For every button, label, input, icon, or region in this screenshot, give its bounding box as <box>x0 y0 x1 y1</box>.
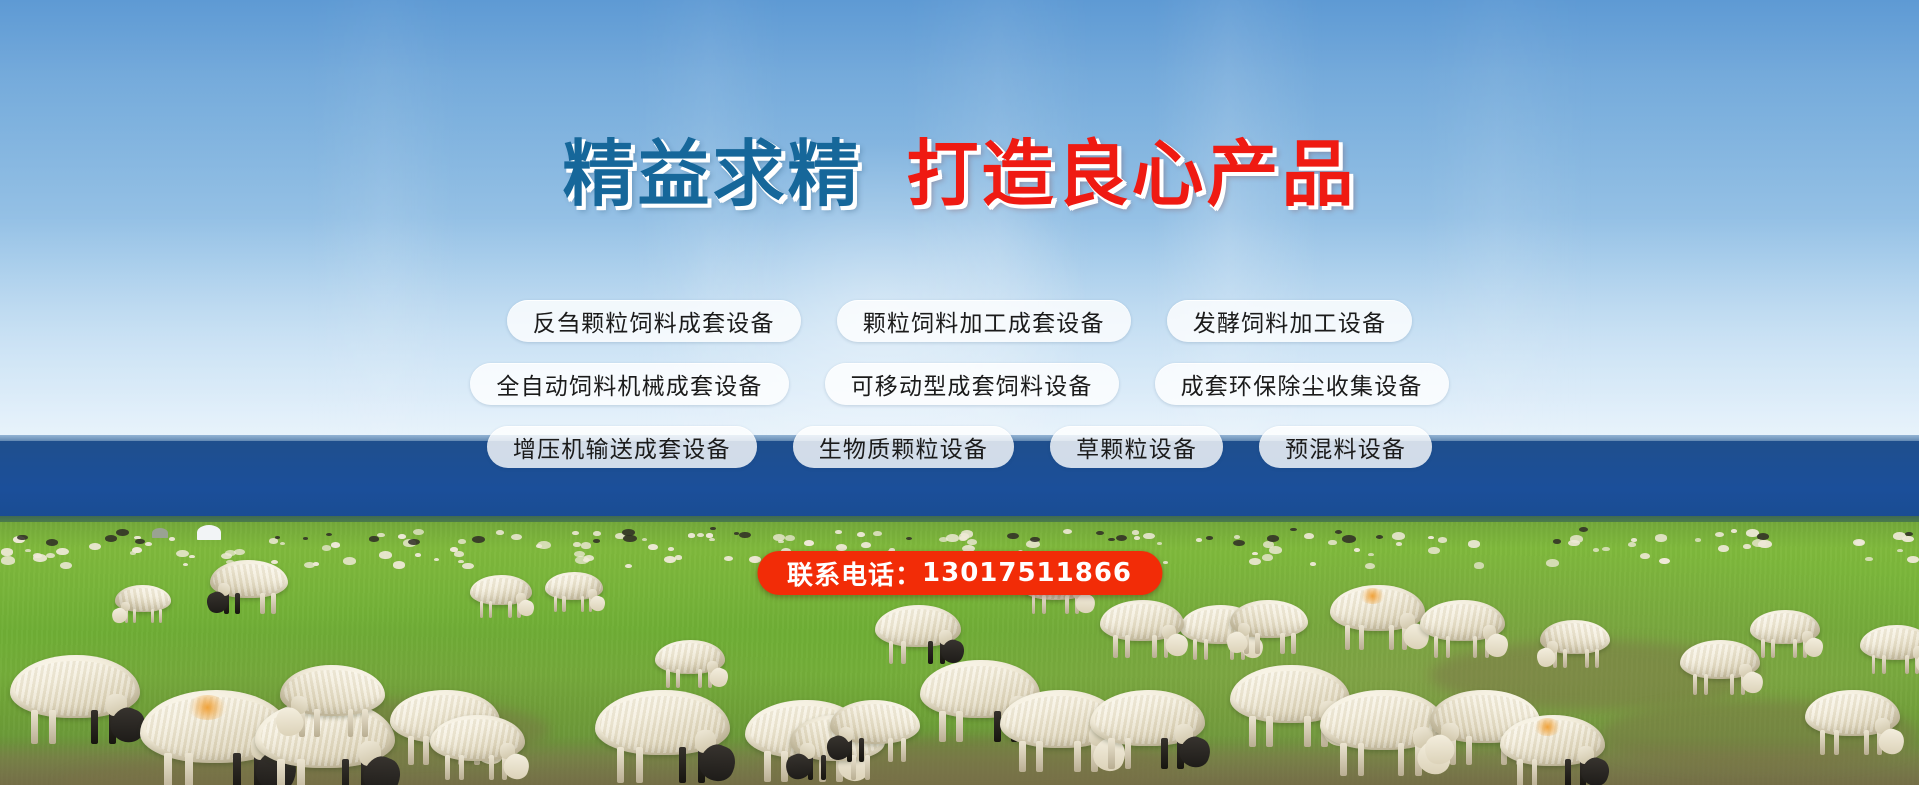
sheep-leg <box>764 751 771 783</box>
sheep-leg <box>508 601 511 617</box>
sheep <box>1420 600 1505 666</box>
distant-sheep <box>280 542 285 545</box>
distant-sheep <box>946 534 959 542</box>
sheep-leg <box>151 609 154 624</box>
distant-sheep <box>33 554 47 562</box>
sheep-leg <box>1532 759 1538 785</box>
distant-sheep <box>1468 540 1480 547</box>
sheep-leg <box>1771 639 1775 658</box>
distant-sheep <box>574 551 585 558</box>
distant-sheep <box>415 553 422 557</box>
sheep-leg <box>185 753 193 785</box>
sheep-leg <box>133 609 136 624</box>
distant-sheep <box>496 530 504 535</box>
sheep <box>10 655 140 756</box>
sheep-leg <box>348 709 354 737</box>
distant-sheep <box>706 533 713 537</box>
distant-sheep <box>1396 542 1402 546</box>
distant-sheep <box>873 531 882 536</box>
distant-sheep <box>331 542 340 547</box>
distant-sheep <box>573 542 581 547</box>
sheep <box>280 665 385 747</box>
sheep-leg <box>1249 716 1256 748</box>
distant-sheep <box>1743 544 1751 549</box>
distant-sheep <box>593 531 601 536</box>
distant-sheep <box>861 542 871 548</box>
sheep-leg <box>1266 716 1273 748</box>
sheep-leg <box>1036 741 1043 773</box>
distant-sheep <box>1628 542 1636 547</box>
sheep-leg <box>1193 639 1197 660</box>
distant-sheep <box>183 563 188 566</box>
distant-sheep <box>398 534 406 539</box>
distant-sheep <box>511 534 521 540</box>
distant-sheep <box>434 558 439 561</box>
sheep-leg <box>342 759 350 785</box>
sheep-paint-mark <box>188 695 227 721</box>
sheep-leg <box>956 711 963 743</box>
product-tag-row-1: 反刍颗粒饲料成套设备 颗粒饲料加工成套设备 发酵饲料加工设备 <box>507 300 1413 342</box>
sheep <box>830 700 920 770</box>
sheep-leg <box>1761 639 1765 658</box>
sheep-leg <box>554 596 557 611</box>
sheep-leg <box>1204 639 1208 660</box>
sheep-leg <box>1304 716 1311 748</box>
sheep-leg <box>164 753 172 785</box>
page-title: 精益求精打造良心产品 <box>0 138 1919 210</box>
sheep-leg <box>1864 730 1869 755</box>
distant-sheep <box>1474 562 1484 568</box>
sheep-leg <box>459 755 464 780</box>
distant-sheep <box>1695 538 1701 541</box>
sheep-leg <box>1345 625 1350 650</box>
distant-sheep <box>458 560 464 563</box>
distant-sheep <box>1354 548 1361 552</box>
distant-sheep <box>668 547 674 551</box>
sheep-leg <box>233 753 241 785</box>
product-tag-ruminant-pellet-feed-complete-equipment[interactable]: 反刍颗粒饲料成套设备 <box>507 300 801 342</box>
distant-dark-animal <box>710 527 715 530</box>
distant-sheep <box>664 556 676 563</box>
distant-sheep <box>1428 547 1439 554</box>
sheep-leg <box>1517 759 1523 785</box>
sheep-leg <box>1446 636 1451 659</box>
sheep-leg <box>1065 595 1069 614</box>
distant-sheep <box>688 533 696 538</box>
distant-sheep <box>145 542 152 546</box>
distant-sheep <box>1143 533 1155 540</box>
distant-sheep <box>1438 537 1447 543</box>
distant-sheep <box>675 555 683 560</box>
sheep <box>1330 585 1425 659</box>
hero-banner: 精益求精打造良心产品 反刍颗粒饲料成套设备 颗粒饲料加工成套设备 发酵饲料加工设… <box>0 0 1919 785</box>
sheep-leg <box>636 747 643 783</box>
distant-sheep <box>1 556 15 564</box>
distant-dark-animal <box>1335 530 1342 534</box>
sheep-leg <box>1125 635 1130 657</box>
distant-sheep <box>1631 538 1637 542</box>
distant-sheep <box>857 532 865 537</box>
sheep-leg <box>1466 736 1472 765</box>
sheep-leg <box>1358 743 1365 776</box>
sheep-leg <box>1730 674 1734 695</box>
sheep-leg <box>666 669 670 688</box>
distant-sheep <box>1157 542 1162 545</box>
distant-sheep <box>967 539 977 545</box>
product-tag-biomass-pellet-equipment[interactable]: 生物质颗粒设备 <box>793 426 1014 468</box>
sheep-leg <box>1434 636 1439 659</box>
distant-dark-animal <box>593 539 600 543</box>
sheep-leg <box>617 747 624 783</box>
distant-sheep <box>1134 536 1140 540</box>
sheep-leg <box>1280 633 1284 654</box>
sheep-leg <box>1125 738 1131 768</box>
distant-sheep <box>1262 554 1273 560</box>
product-tag-premix-equipment[interactable]: 预混料设备 <box>1259 426 1432 468</box>
sheep-leg <box>1359 625 1364 650</box>
sheep-leg <box>31 710 38 744</box>
sheep-leg <box>159 609 162 624</box>
distant-sheep <box>1865 557 1872 561</box>
sheep <box>1500 715 1605 785</box>
distant-sheep <box>572 531 578 535</box>
distant-sheep <box>1368 553 1373 556</box>
sheep-leg <box>271 593 275 614</box>
sheep-leg <box>1872 655 1876 674</box>
sheep <box>210 560 288 621</box>
distant-sheep <box>1365 563 1375 569</box>
distant-sheep <box>1263 541 1274 548</box>
sheep <box>545 572 603 617</box>
contact-phone-label: 联系电话： <box>787 555 922 592</box>
sheep <box>1540 620 1610 675</box>
distant-sheep <box>46 553 55 558</box>
sheep-leg <box>939 711 946 743</box>
sheep-leg <box>901 641 906 664</box>
sheep <box>470 575 532 623</box>
distant-sheep <box>462 563 473 570</box>
product-tag-row-2: 全自动饲料机械成套设备 可移动型成套饲料设备 成套环保除尘收集设备 <box>470 363 1448 405</box>
sheep-leg <box>562 596 565 611</box>
product-tag-grid: 反刍颗粒饲料成套设备 颗粒饲料加工成套设备 发酵饲料加工设备 全自动饲料机械成套… <box>0 300 1919 468</box>
distant-dark-animal <box>1905 532 1913 536</box>
distant-sheep <box>1328 540 1336 545</box>
contact-phone-number: 13017511866 <box>922 558 1132 588</box>
distant-sheep <box>169 537 175 541</box>
distant-sheep <box>25 549 30 552</box>
sheep-leg <box>888 738 893 762</box>
distant-sheep <box>1304 533 1314 539</box>
sheep-leg <box>859 738 864 762</box>
sheep <box>655 640 725 695</box>
distant-dark-animal <box>1757 533 1769 540</box>
distant-dark-animal <box>622 529 635 536</box>
sheep-leg <box>1834 730 1839 755</box>
sheep-wool <box>1863 628 1919 658</box>
product-tag-environmental-dust-collection-equipment[interactable]: 成套环保除尘收集设备 <box>1155 363 1449 405</box>
sheep-leg <box>581 596 584 611</box>
distant-sheep <box>1655 534 1667 541</box>
sheep-leg <box>1152 635 1157 657</box>
distant-sheep <box>269 538 279 544</box>
sheep-leg <box>1820 730 1825 755</box>
sheep-leg <box>277 759 285 785</box>
sheep-leg <box>1291 633 1295 654</box>
sheep <box>115 585 171 629</box>
distant-sheep <box>1428 536 1434 539</box>
sheep-leg <box>1113 635 1118 657</box>
sheep-leg <box>698 669 702 688</box>
distant-sheep <box>1310 562 1316 566</box>
distant-dark-animal <box>1342 535 1356 543</box>
sheep <box>595 690 730 785</box>
sheep-leg <box>889 641 894 664</box>
distant-sheep <box>450 547 458 552</box>
distant-sheep <box>454 551 463 557</box>
distant-sheep <box>1570 535 1583 543</box>
sheep-leg <box>1074 741 1081 773</box>
sheep-leg <box>91 710 98 744</box>
sheep-leg <box>489 601 492 617</box>
sheep-leg <box>1108 738 1114 768</box>
distant-sheep <box>1546 559 1559 567</box>
sheep-leg <box>1255 633 1259 654</box>
sheep-leg <box>821 755 826 780</box>
sheep-leg <box>1032 595 1036 614</box>
headline-blue-text: 精益求精 <box>562 132 862 216</box>
sheep-leg <box>1704 674 1708 695</box>
distant-sheep <box>1718 545 1729 552</box>
sheep <box>1320 690 1445 785</box>
distant-sheep <box>393 561 406 569</box>
product-tag-booster-conveying-complete-equipment[interactable]: 增压机输送成套设备 <box>487 426 757 468</box>
sheep-leg <box>1161 738 1167 768</box>
sheep-leg <box>1398 743 1405 776</box>
product-tag-fermented-feed-processing-equipment[interactable]: 发酵饲料加工设备 <box>1167 300 1413 342</box>
sheep-leg <box>928 641 933 664</box>
sheep-leg <box>1585 649 1589 668</box>
distant-dark-animal <box>275 536 281 539</box>
distant-dark-animal <box>1267 535 1279 541</box>
distant-sheep <box>1 548 13 555</box>
sheep-leg <box>445 755 450 780</box>
distant-dark-animal <box>46 539 58 546</box>
sheep-leg <box>489 755 494 780</box>
sheep-leg <box>1693 674 1697 695</box>
contact-phone-banner[interactable]: 联系电话：13017511866 <box>757 551 1162 595</box>
sheep-leg <box>260 593 264 614</box>
distant-sheep <box>60 562 72 569</box>
distant-sheep <box>835 530 842 534</box>
distant-sheep <box>343 557 356 565</box>
sheep <box>1100 600 1184 666</box>
sheep <box>1860 625 1919 681</box>
sheep <box>1750 610 1820 665</box>
distant-sheep <box>583 558 590 562</box>
distant-sheep <box>1249 558 1261 565</box>
sheep-leg <box>235 593 239 614</box>
sheep-leg <box>314 709 320 737</box>
sheep <box>1805 690 1900 764</box>
distant-sheep <box>537 541 551 549</box>
product-tag-grass-pellet-equipment[interactable]: 草颗粒设备 <box>1050 426 1223 468</box>
sheep-leg <box>1905 655 1909 674</box>
sheep-leg <box>362 709 368 737</box>
sheep-leg <box>480 601 483 617</box>
sheep-leg <box>1595 649 1599 668</box>
sheep-leg <box>1882 655 1886 674</box>
distant-dark-animal <box>906 537 912 540</box>
sheep-leg <box>408 736 414 765</box>
distant-sheep <box>322 545 331 550</box>
sheep <box>1230 600 1308 661</box>
product-tag-mobile-complete-feed-equipment[interactable]: 可移动型成套饲料设备 <box>825 363 1119 405</box>
sheep-leg <box>1389 625 1394 650</box>
product-tag-automatic-feed-machinery-complete-equipment[interactable]: 全自动饲料机械成套设备 <box>470 363 788 405</box>
sheep-leg <box>49 710 56 744</box>
sheep <box>1090 690 1205 780</box>
distant-hut <box>152 528 168 538</box>
sheep <box>1680 640 1760 702</box>
product-tag-row-3: 增压机输送成套设备 生物质颗粒设备 草颗粒设备 预混料设备 <box>487 426 1432 468</box>
sheep-leg <box>1340 743 1347 776</box>
sheep-leg <box>1793 639 1797 658</box>
sheep-leg <box>1042 595 1046 614</box>
distant-sheep <box>413 529 424 536</box>
sheep-leg <box>297 759 305 785</box>
distant-sheep <box>581 542 591 548</box>
sheep-leg <box>1019 741 1026 773</box>
distant-sheep <box>1731 529 1737 533</box>
distant-sheep <box>379 551 392 559</box>
distant-dark-animal <box>326 533 332 536</box>
sheep-leg <box>676 669 680 688</box>
sheep-leg <box>679 747 686 783</box>
sheep-leg <box>423 736 429 765</box>
distant-dark-animal <box>369 536 378 541</box>
distant-dark-animal <box>734 532 739 535</box>
sheep-leg <box>1565 759 1571 785</box>
distant-sheep <box>959 533 970 540</box>
distant-sheep <box>56 548 69 556</box>
sheep-paint-mark <box>1534 718 1561 736</box>
sheep-leg <box>901 738 906 762</box>
sheep-leg <box>1563 649 1567 668</box>
sheep <box>875 605 961 672</box>
distant-sheep <box>1132 530 1139 534</box>
sheep-leg <box>1473 636 1478 659</box>
product-tag-pellet-feed-processing-complete-equipment[interactable]: 颗粒饲料加工成套设备 <box>837 300 1131 342</box>
sheep-paint-mark <box>1360 588 1385 604</box>
distant-sheep <box>1907 556 1919 563</box>
distant-tent <box>197 525 221 540</box>
distant-dark-animal <box>472 536 485 543</box>
sheep <box>430 715 525 785</box>
distant-dark-animal <box>17 535 27 541</box>
distant-sheep <box>939 537 948 542</box>
distant-sheep <box>1392 532 1405 540</box>
distant-sheep <box>1897 549 1903 552</box>
headline-red-text: 打造良心产品 <box>907 132 1357 216</box>
